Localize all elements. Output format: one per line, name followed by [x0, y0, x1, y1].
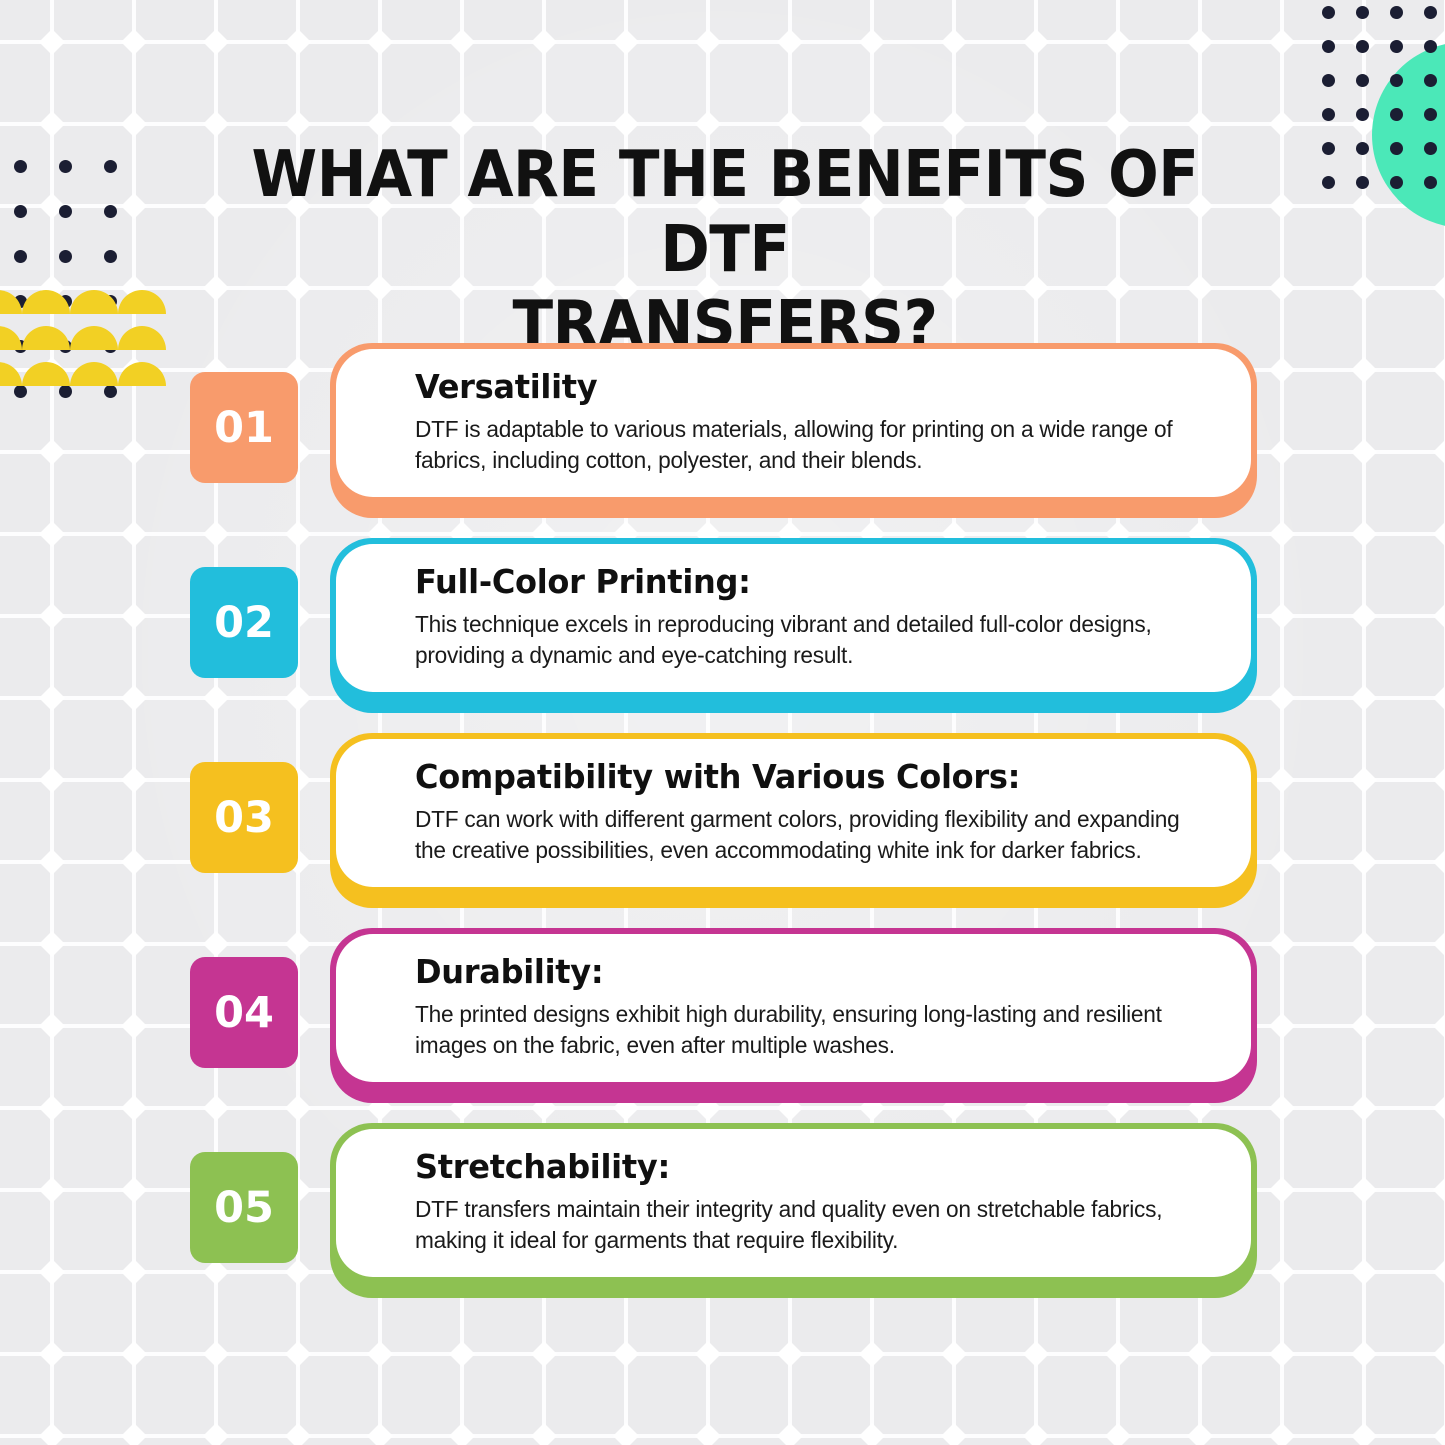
benefit-number: 01 [214, 403, 274, 453]
benefit-item: 01VersatilityDTF is adaptable to various… [0, 340, 1445, 535]
benefit-title: Stretchability: [415, 1149, 1193, 1185]
decorative-dot [1390, 176, 1403, 189]
benefit-description: DTF transfers maintain their integrity a… [415, 1194, 1189, 1257]
benefit-card: Compatibility with Various Colors:DTF ca… [330, 733, 1257, 908]
decorative-dot [1424, 108, 1437, 121]
benefit-title: Durability: [415, 954, 1193, 990]
infographic-poster: WHAT ARE THE BENEFITS OF DTF TRANSFERS? … [0, 0, 1445, 1445]
decorative-dot [1424, 176, 1437, 189]
decorative-dot [1356, 74, 1369, 87]
benefit-card-body: Compatibility with Various Colors:DTF ca… [336, 739, 1251, 887]
benefit-number-badge: 04 [190, 957, 298, 1068]
decorative-dot [1322, 108, 1335, 121]
benefit-card-body: VersatilityDTF is adaptable to various m… [336, 349, 1251, 497]
decorative-dot [14, 205, 27, 218]
dot-grid-top-right [1322, 6, 1442, 181]
benefit-number-badge: 03 [190, 762, 298, 873]
decorative-dot [104, 205, 117, 218]
page-title: WHAT ARE THE BENEFITS OF DTF TRANSFERS? [232, 138, 1218, 363]
benefit-number: 05 [214, 1183, 274, 1233]
decorative-dot [1424, 142, 1437, 155]
benefit-number-badge: 05 [190, 1152, 298, 1263]
benefit-card: VersatilityDTF is adaptable to various m… [330, 343, 1257, 518]
decorative-dot [1390, 74, 1403, 87]
decorative-dot [1356, 108, 1369, 121]
decorative-dot [1322, 40, 1335, 53]
benefit-item: 05Stretchability:DTF transfers maintain … [0, 1120, 1445, 1315]
benefit-card: Durability:The printed designs exhibit h… [330, 928, 1257, 1103]
decorative-semicircle [70, 290, 118, 314]
benefit-number-badge: 02 [190, 567, 298, 678]
benefits-list: 01VersatilityDTF is adaptable to various… [0, 340, 1445, 1315]
benefit-title: Versatility [415, 369, 1193, 405]
decorative-dot [1390, 142, 1403, 155]
decorative-dot [1356, 6, 1369, 19]
benefit-number: 02 [214, 598, 274, 648]
decorative-dot [1322, 142, 1335, 155]
benefit-description: DTF can work with different garment colo… [415, 804, 1189, 867]
decorative-dot [1424, 74, 1437, 87]
decorative-dot [104, 160, 117, 173]
benefit-description: DTF is adaptable to various materials, a… [415, 414, 1189, 477]
benefit-card-body: Stretchability:DTF transfers maintain th… [336, 1129, 1251, 1277]
decorative-semicircle [0, 290, 22, 314]
decorative-dot [1424, 6, 1437, 19]
decorative-semicircle [22, 290, 70, 314]
decorative-dot [14, 160, 27, 173]
decorative-dot [1390, 108, 1403, 121]
decorative-dot [14, 250, 27, 263]
decorative-dot [1356, 176, 1369, 189]
benefit-title: Compatibility with Various Colors: [415, 759, 1193, 795]
decorative-dot [1356, 142, 1369, 155]
decorative-dot [1322, 6, 1335, 19]
benefit-card-body: Full-Color Printing:This technique excel… [336, 544, 1251, 692]
benefit-number: 03 [214, 793, 274, 843]
decorative-dot [59, 250, 72, 263]
decorative-dot [1356, 40, 1369, 53]
benefit-card: Stretchability:DTF transfers maintain th… [330, 1123, 1257, 1298]
decorative-dot [1424, 40, 1437, 53]
decorative-dot [1322, 176, 1335, 189]
decorative-dot [1390, 6, 1403, 19]
benefit-item: 03Compatibility with Various Colors:DTF … [0, 730, 1445, 925]
benefit-number: 04 [214, 988, 274, 1038]
benefit-item: 04Durability:The printed designs exhibit… [0, 925, 1445, 1120]
decorative-dot [59, 160, 72, 173]
benefit-item: 02Full-Color Printing:This technique exc… [0, 535, 1445, 730]
decorative-dot [104, 250, 117, 263]
decorative-dot [1322, 74, 1335, 87]
decorative-dot [1390, 40, 1403, 53]
benefit-description: This technique excels in reproducing vib… [415, 609, 1189, 672]
benefit-number-badge: 01 [190, 372, 298, 483]
benefit-title: Full-Color Printing: [415, 564, 1193, 600]
decorative-dot [59, 205, 72, 218]
benefit-card: Full-Color Printing:This technique excel… [330, 538, 1257, 713]
benefit-card-body: Durability:The printed designs exhibit h… [336, 934, 1251, 1082]
benefit-description: The printed designs exhibit high durabil… [415, 999, 1189, 1062]
